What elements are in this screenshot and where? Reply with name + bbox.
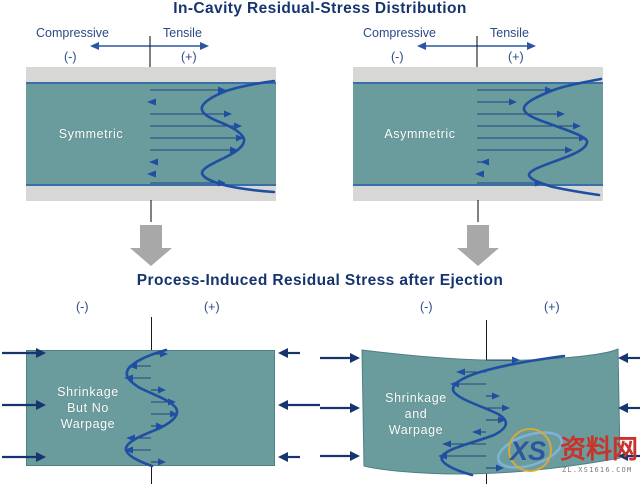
label-plus-bottom-left: (+) [204,300,220,314]
label-minus-bottom-right: (-) [420,300,433,314]
watermark-brand-latin: XS [508,436,546,466]
page-title-middle: Process-Induced Residual Stress after Ej… [0,272,640,290]
stress-profile-shrinkage-no-warpage [0,330,330,484]
panel-label-shrinkage-and-warpage: Shrinkage and Warpage [358,390,474,438]
axis-direction-arrows-top-left [0,0,300,70]
stress-profile-symmetric [26,67,276,202]
watermark: XS 资料网 ZL.XS1616.COM [494,424,640,482]
watermark-brand-cjk: 资料网 [560,435,638,465]
stress-tick-arrows-shrinkage-no-warpage [124,351,178,466]
label-minus-bottom-left: (-) [76,300,89,314]
transition-arrows [0,200,640,270]
down-arrow-right [457,225,499,266]
label-plus-bottom-right: (+) [544,300,560,314]
shrinkage-arrows-left [2,348,46,462]
down-arrow-left [130,225,172,266]
shrinkage-arrows-right [278,348,320,462]
axis-direction-arrows-top-right [327,0,627,70]
stress-tick-arrows-symmetric [147,87,244,187]
shrinkage-arrows-left-warped [320,353,360,461]
stress-profile-asymmetric [353,67,603,202]
watermark-domain: ZL.XS1616.COM [562,466,632,474]
stress-curve-asymmetric [524,79,601,195]
